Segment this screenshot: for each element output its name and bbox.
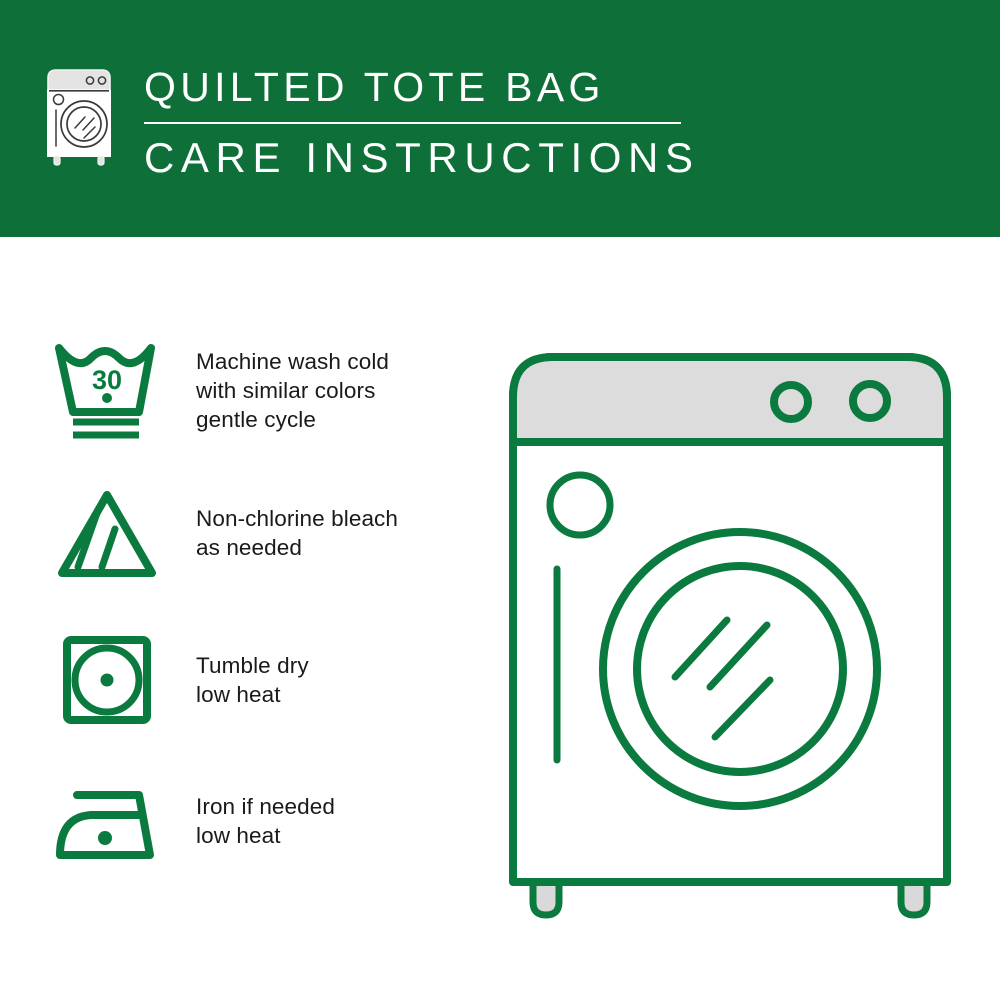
care-instruction-text: Non-chlorine bleach as needed: [196, 480, 398, 562]
tumble-dry-low-heat-icon: [46, 625, 168, 735]
care-instruction-text: Tumble dry low heat: [196, 625, 309, 709]
front-load-washing-machine-illustration: [495, 337, 965, 937]
header-content: QUILTED TOTE BAG CARE INSTRUCTIONS: [42, 62, 700, 183]
title-divider: [144, 122, 681, 124]
control-panel: [517, 361, 943, 442]
page-content: 30 Machine wash cold with similar colors…: [0, 237, 1000, 1000]
iron-low-heat-icon: [46, 770, 168, 880]
wash-temperature-label: 30: [92, 365, 122, 395]
care-instruction-text: Iron if needed low heat: [196, 770, 335, 850]
care-instruction-list: 30 Machine wash cold with similar colors…: [46, 335, 476, 915]
page-header: QUILTED TOTE BAG CARE INSTRUCTIONS: [0, 0, 1000, 237]
page-subtitle: CARE INSTRUCTIONS: [144, 133, 700, 183]
wash-tub-30-gentle-icon: 30: [46, 335, 168, 445]
care-instruction-row: Non-chlorine bleach as needed: [46, 480, 476, 625]
care-instruction-row: Iron if needed low heat: [46, 770, 476, 915]
page-title: QUILTED TOTE BAG: [144, 62, 700, 112]
non-chlorine-bleach-triangle-icon: [46, 480, 168, 590]
care-instruction-row: Tumble dry low heat: [46, 625, 476, 770]
care-instruction-row: 30 Machine wash cold with similar colors…: [46, 335, 476, 480]
washing-machine-icon: [42, 66, 116, 168]
care-instruction-text: Machine wash cold with similar colors ge…: [196, 335, 389, 434]
header-title-block: QUILTED TOTE BAG CARE INSTRUCTIONS: [144, 62, 700, 183]
